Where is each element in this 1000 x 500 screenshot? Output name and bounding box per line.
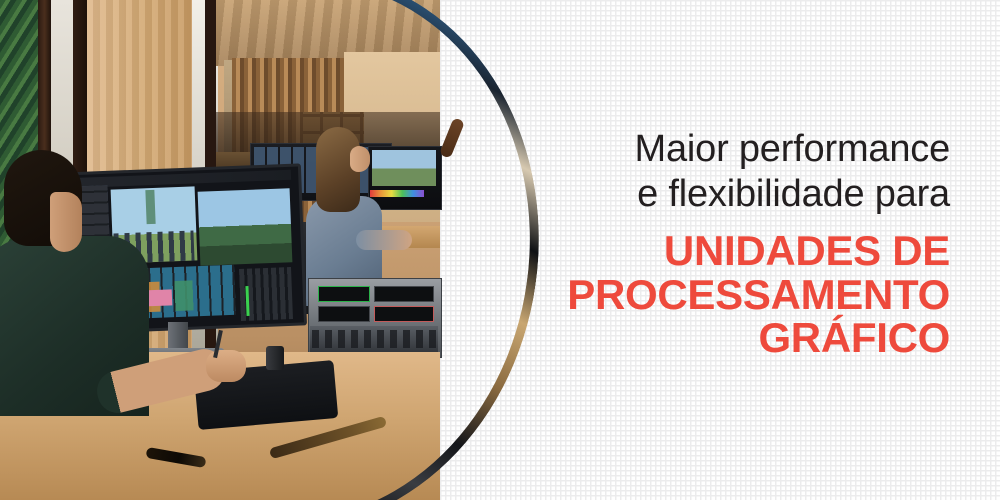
headline-line-1: UNIDADES DE (530, 229, 950, 273)
man-editor-hand (206, 350, 246, 382)
promo-banner: Maior performance e flexibilidade para U… (0, 0, 1000, 500)
rack-slot (374, 286, 434, 302)
rack-slot (318, 306, 370, 322)
lede-line-1: Maior performance (530, 128, 950, 171)
rack-slot (374, 306, 434, 322)
lede-line-2: e flexibilidade para (530, 173, 950, 216)
studio-photo (0, 0, 570, 500)
coffee-cup (266, 346, 284, 370)
photo-edge-sliver (400, 0, 640, 3)
viewer-statue (145, 190, 155, 224)
rack-knobs (312, 330, 436, 348)
headline: UNIDADES DE PROCESSAMENTO GRÁFICO (530, 229, 950, 360)
background-monitor-preview (372, 150, 436, 186)
woman-editor-arm (356, 230, 412, 250)
copy-block: Maior performance e flexibilidade para U… (530, 128, 950, 360)
woman-editor-face (350, 146, 370, 172)
headline-line-3: GRÁFICO (530, 316, 950, 360)
rack-slot (318, 286, 370, 302)
color-bar-strip (370, 190, 424, 197)
studio-photo-content (0, 0, 440, 500)
headline-line-2: PROCESSAMENTO (530, 273, 950, 317)
man-editor-face (50, 192, 82, 252)
editor-program-viewer (198, 188, 293, 265)
